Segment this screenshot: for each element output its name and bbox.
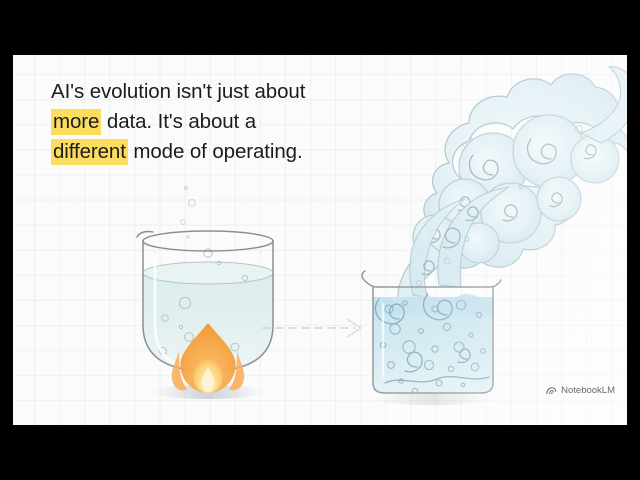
water-surface	[143, 262, 273, 284]
left-illustration	[113, 175, 303, 420]
beaker-spout	[362, 271, 365, 281]
left-caption-title: Quantiative Change:	[101, 423, 306, 425]
beaker-with-flame-icon	[113, 175, 303, 420]
right-caption-title: Qualitative Change:	[333, 423, 553, 425]
notebooklm-label: NotebookLM	[561, 385, 615, 396]
right-illustration	[343, 55, 627, 417]
steam-cloud	[398, 67, 627, 330]
beaker-with-steam-cloud-icon	[343, 55, 627, 417]
notebooklm-watermark: NotebookLM	[546, 385, 615, 396]
headline-highlight: more	[51, 109, 101, 135]
notebooklm-icon	[546, 385, 557, 396]
right-caption: Qualitative Change: Different Mode of Op…	[333, 423, 553, 425]
headline-highlight: different	[51, 139, 128, 165]
beaker-rim	[365, 280, 501, 287]
beaker-rim	[143, 231, 273, 251]
letterbox-frame: AI's evolution isn't just aboutmore data…	[0, 0, 640, 480]
headline-text: data. It's about a	[101, 110, 256, 133]
headline-text: mode of operating.	[128, 140, 303, 163]
headline-text: AI's evolution isn't just about	[51, 80, 305, 103]
slide-canvas: AI's evolution isn't just aboutmore data…	[13, 55, 627, 425]
beaker-shadow	[373, 393, 493, 405]
left-caption: Quantiative Change: More Data	[101, 423, 306, 425]
